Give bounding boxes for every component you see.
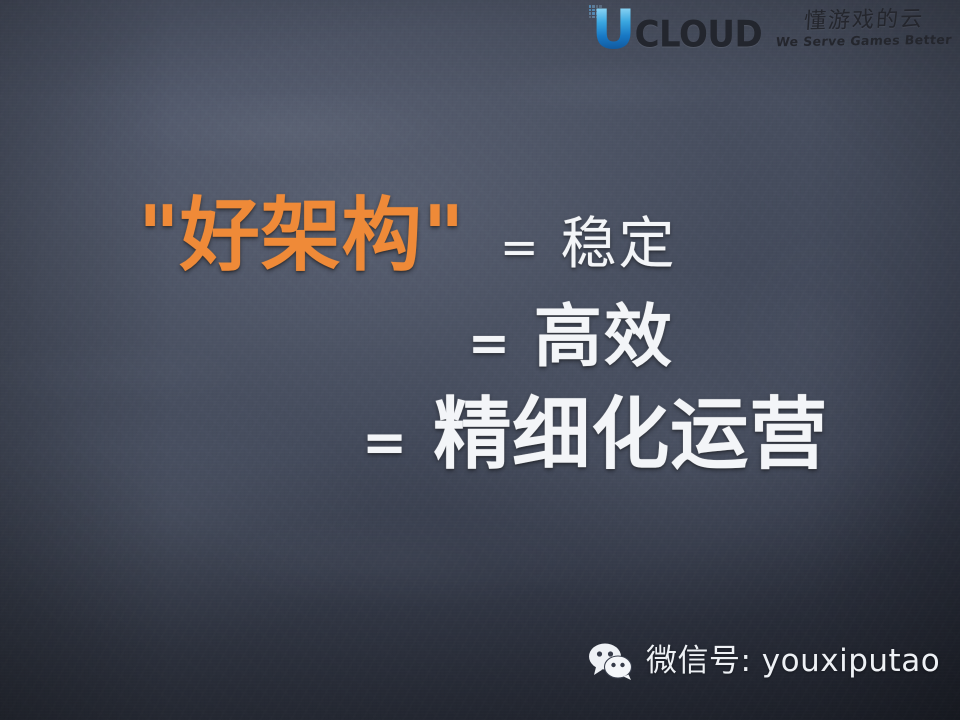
equals-sign-1: = <box>500 219 539 275</box>
equation-value-1: 稳定 <box>561 214 677 276</box>
headline-title-row: "好架构" <box>138 190 464 282</box>
slide-canvas: U CLOUD 懂游戏的云 We Serve Games Better "好架构… <box>0 0 960 720</box>
tagline-chinese: 懂游戏的云 <box>803 6 925 34</box>
close-quote: " <box>423 189 465 282</box>
brand-logo: U CLOUD 懂游戏的云 We Serve Games Better <box>588 4 952 54</box>
equals-sign-2: = <box>468 313 510 373</box>
wechat-icon <box>588 642 634 680</box>
equals-sign-3: = <box>362 411 407 475</box>
headline-title: "好架构" <box>138 190 464 282</box>
brand-tagline: 懂游戏的云 We Serve Games Better <box>776 8 952 51</box>
wechat-id-label: 微信号: youxiputao <box>646 642 940 680</box>
equation-value-3: 精细化运营 <box>433 392 828 478</box>
ucloud-logo: U CLOUD <box>588 4 763 54</box>
tagline-english: We Serve Games Better <box>775 31 952 48</box>
headline-title-text: 好架构 <box>180 189 423 282</box>
headline-block: "好架构" = 稳定 = 高效 = 精细化运营 <box>0 182 960 482</box>
logo-letter-u: U <box>592 8 632 53</box>
equation-value-2: 高效 <box>534 300 674 376</box>
wechat-footer: 微信号: youxiputao <box>588 642 940 680</box>
open-quote: " <box>138 189 180 282</box>
equation-row-1: = 稳定 <box>500 214 677 276</box>
equation-row-2: = 高效 <box>468 300 674 376</box>
logo-wordmark: CLOUD <box>635 15 763 55</box>
logo-u-mark: U <box>588 4 634 54</box>
equation-row-3: = 精细化运营 <box>362 392 828 478</box>
